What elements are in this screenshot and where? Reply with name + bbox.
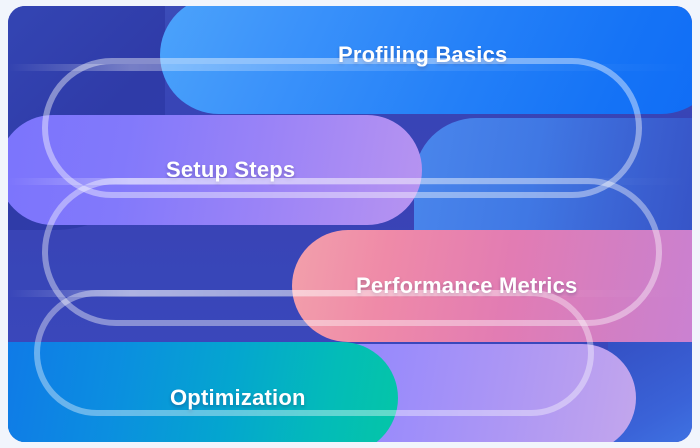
band-label-optimization: Optimization [170, 385, 306, 411]
band-setup-steps[interactable]: Setup Steps [8, 115, 422, 225]
banner-card: Profiling Basics Setup Steps Performance… [8, 6, 692, 442]
band-label-setup-steps: Setup Steps [166, 157, 295, 183]
band-label-profiling-basics: Profiling Basics [338, 42, 507, 68]
graphic-canvas: Profiling Basics Setup Steps Performance… [0, 0, 700, 448]
band-performance-metrics[interactable]: Performance Metrics [292, 230, 692, 342]
band-optimization[interactable]: Optimization [8, 342, 398, 442]
band-label-performance-metrics: Performance Metrics [356, 273, 577, 299]
decor-blue-mid-shape [414, 118, 692, 242]
band-profiling-basics[interactable]: Profiling Basics [160, 6, 692, 114]
